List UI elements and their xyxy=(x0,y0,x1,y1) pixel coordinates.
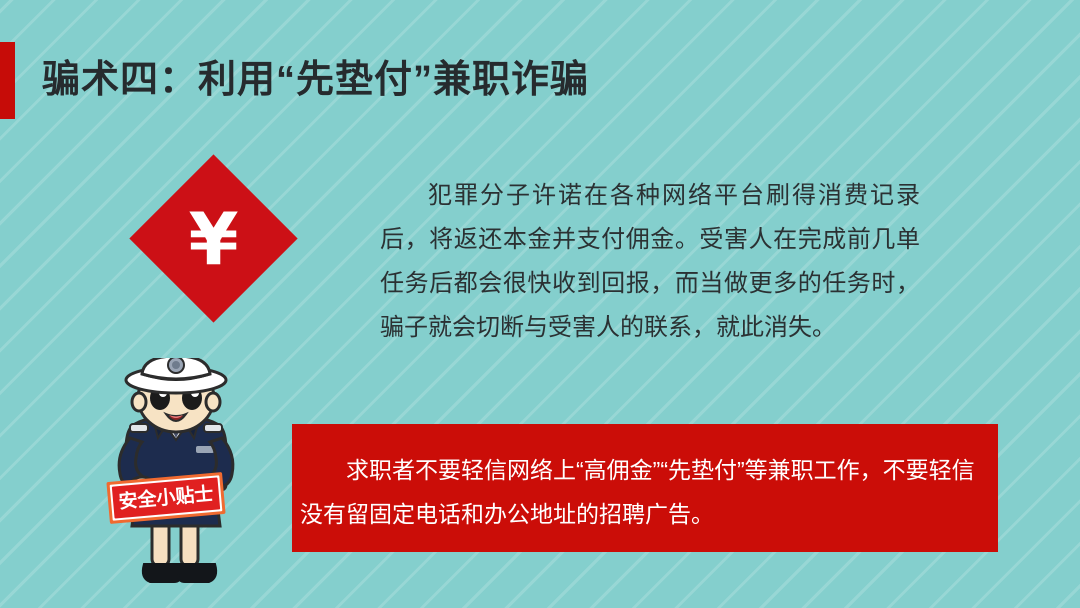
page-title: 骗术四：利用“先垫付”兼职诈骗 xyxy=(42,56,589,104)
advice-text: 求职者不要轻信网络上“高佣金”“先垫付”等兼职工作，不要轻信没有留固定电话和办公… xyxy=(300,448,990,536)
yen-currency-icon: ¥ xyxy=(154,179,273,298)
slide-root: 骗术四：利用“先垫付”兼职诈骗 ¥ 犯罪分子许诺在各种网络平台刷得消费记录后，将… xyxy=(0,0,1080,608)
title-accent-bar xyxy=(0,42,15,119)
mascot-sign-label: 安全小贴士 xyxy=(118,484,214,511)
body-paragraph: 犯罪分子许诺在各种网络平台刷得消费记录后，将返还本金并支付佣金。受害人在完成前几… xyxy=(380,174,920,350)
